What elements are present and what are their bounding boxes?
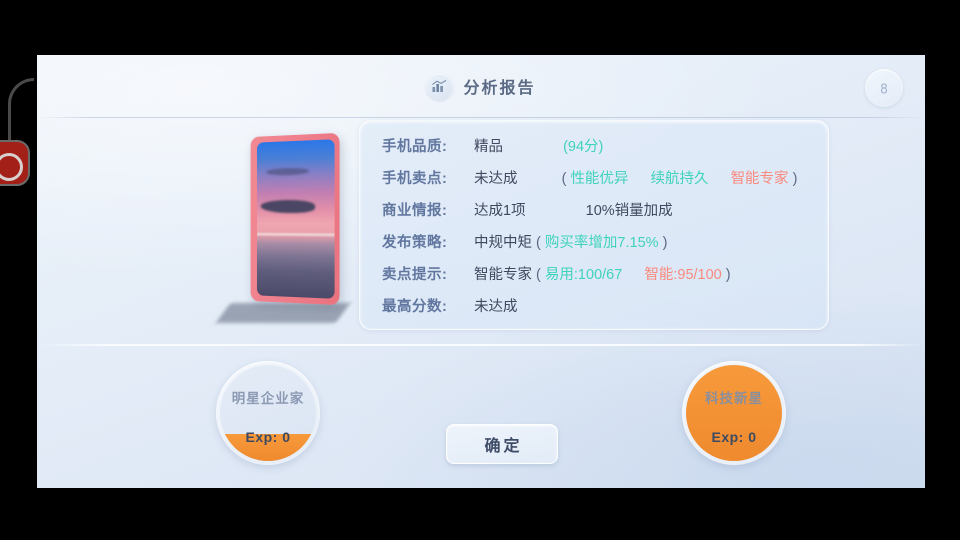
release-strategy-value: 中规中矩 xyxy=(474,235,532,251)
analysis-report-panel: 分析报告 8 手机品质: 精品 xyxy=(37,55,925,488)
stat-row-release-strategy: 发布策略: 中规中矩 ( 购买率增加7.15% ) xyxy=(382,231,808,263)
badge-progress-fill xyxy=(686,365,782,461)
business-intel-status: 达成1项 xyxy=(474,203,526,219)
bar-chart-icon xyxy=(426,73,453,100)
selling-point-tag-3: 智能专家 xyxy=(731,171,789,187)
quality-grade: 精品 xyxy=(474,139,503,155)
header-inner: 分析报告 xyxy=(426,73,535,100)
options-icon: 8 xyxy=(880,81,887,96)
paren-close: ) xyxy=(726,267,731,283)
wallpaper-horizon xyxy=(257,233,335,237)
release-strategy-effect: 购买率增加7.15% xyxy=(545,235,659,251)
stat-row-selling-hint: 卖点提示: 智能专家 ( 易用:100/67 智能:95/100 ) xyxy=(382,263,808,295)
phone-body xyxy=(251,133,340,305)
stat-value: 中规中矩 ( 购买率增加7.15% ) xyxy=(474,231,667,252)
confirm-button-label: 确定 xyxy=(481,432,522,456)
stat-label: 卖点提示: xyxy=(382,263,474,284)
stat-value: 未达成 ( 性能优异 续航持久 智能专家 ) xyxy=(474,167,797,188)
paren-open: ( xyxy=(536,235,541,251)
business-intel-bonus: 10%销量加成 xyxy=(586,203,673,219)
background-decoration-stem xyxy=(8,78,34,144)
stat-value: 精品 (94分) xyxy=(474,135,603,156)
paren-open: ( xyxy=(562,171,567,187)
confirm-button[interactable]: 确定 xyxy=(446,424,558,464)
options-button[interactable]: 8 xyxy=(865,69,903,107)
stat-value: 达成1项 10%销量加成 xyxy=(474,199,673,220)
stat-label: 发布策略: xyxy=(382,231,474,252)
stat-value: 智能专家 ( 易用:100/67 智能:95/100 ) xyxy=(474,263,731,284)
selling-hint-value: 智能专家 xyxy=(474,267,532,283)
stat-row-business-intel: 商业情报: 达成1项 10%销量加成 xyxy=(382,199,808,231)
paren-close: ) xyxy=(663,235,668,251)
selling-point-status: 未达成 xyxy=(474,171,518,187)
high-score-status: 未达成 xyxy=(474,299,518,315)
quality-score: (94分) xyxy=(563,139,603,155)
stat-label: 商业情报: xyxy=(382,199,474,220)
background-app-icon xyxy=(0,140,30,186)
wallpaper-cloud-upper xyxy=(266,167,309,175)
header-divider xyxy=(37,117,925,118)
stat-label: 手机品质: xyxy=(382,135,474,156)
selling-hint-metric-2: 智能:95/100 xyxy=(644,267,721,283)
stat-label: 最高分数: xyxy=(382,295,474,316)
page-title: 分析报告 xyxy=(463,74,535,98)
selling-point-tag-1: 性能优异 xyxy=(570,171,628,187)
stat-row-selling-points: 手机卖点: 未达成 ( 性能优异 续航持久 智能专家 ) xyxy=(382,167,808,199)
stat-value: 未达成 xyxy=(474,295,518,316)
badge-title: 科技新星 xyxy=(705,387,763,407)
wallpaper-cloud-main xyxy=(261,200,315,213)
selling-hint-metric-1: 易用:100/67 xyxy=(545,267,622,283)
phone-wallpaper xyxy=(257,139,335,299)
badge-tech-rising-star[interactable]: 科技新星 Exp: 0 xyxy=(682,361,786,465)
phone-shadow xyxy=(216,303,351,323)
stat-label: 手机卖点: xyxy=(382,167,474,188)
screen: 分析报告 8 手机品质: 精品 xyxy=(0,0,960,540)
stat-row-quality: 手机品质: 精品 (94分) xyxy=(382,135,808,167)
panel-header: 分析报告 xyxy=(37,55,925,117)
paren-close: ) xyxy=(793,171,798,187)
badge-star-entrepreneur[interactable]: 明星企业家 Exp: 0 xyxy=(216,361,320,465)
badge-inner: 明星企业家 Exp: 0 xyxy=(220,365,316,461)
stat-row-high-score: 最高分数: 未达成 xyxy=(382,295,808,327)
selling-point-tag-2: 续航持久 xyxy=(651,171,709,187)
badge-exp: Exp: 0 xyxy=(245,429,290,445)
badge-title: 明星企业家 xyxy=(232,387,305,407)
paren-open: ( xyxy=(536,267,541,283)
badge-exp: Exp: 0 xyxy=(711,429,756,445)
badge-inner: 科技新星 Exp: 0 xyxy=(686,365,782,461)
stats-card: 手机品质: 精品 (94分) 手机卖点: 未达成 ( 性能优异 续航持久 xyxy=(359,120,829,330)
footer-divider xyxy=(37,344,925,346)
